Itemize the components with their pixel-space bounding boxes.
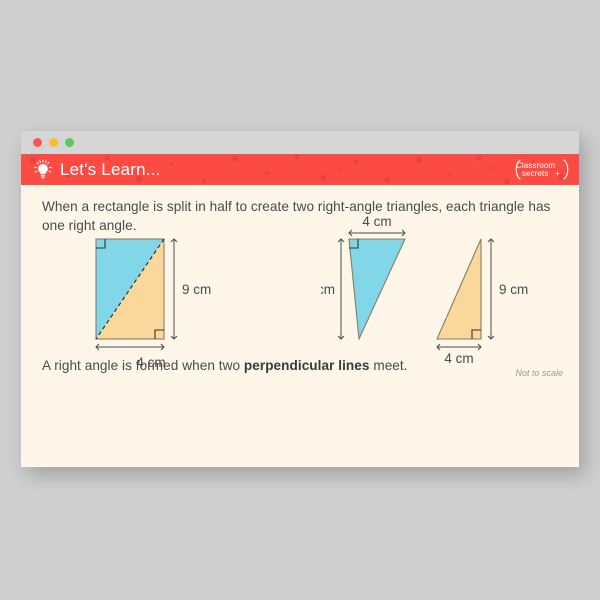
figure-blue-triangle: 4 cm 9 cm xyxy=(321,215,431,340)
lightbulb-icon xyxy=(32,159,54,181)
figure3-height-dimension xyxy=(488,239,494,339)
conclusion-paragraph: A right angle is formed when two perpend… xyxy=(42,358,408,373)
conclusion-after: meet. xyxy=(370,358,408,373)
figure1-height-label: 9 cm xyxy=(182,282,211,297)
close-button[interactable] xyxy=(33,138,42,147)
blue-triangle-shape xyxy=(349,239,405,339)
logo-line-2: secrets xyxy=(522,169,549,178)
window-titlebar xyxy=(21,131,579,154)
conclusion-before: A right angle is formed when two xyxy=(42,358,244,373)
figure-rectangle-split: 9 cm xyxy=(76,229,226,354)
presentation-window: Let's Learn... Classroom secrets + When … xyxy=(21,131,579,467)
figure3-width-label: 4 cm xyxy=(444,351,473,365)
logo-plus: + xyxy=(555,169,560,178)
figure2-height-dimension xyxy=(338,239,344,339)
conclusion-bold: perpendicular lines xyxy=(244,358,370,373)
slide-content: When a rectangle is split in half to cre… xyxy=(21,185,579,467)
not-to-scale-note: Not to scale xyxy=(515,368,563,378)
figure-orange-triangle: 9 cm 4 cm xyxy=(431,225,579,365)
minimize-button[interactable] xyxy=(49,138,58,147)
classroom-secrets-logo: Classroom secrets + xyxy=(514,158,570,181)
width-dimension xyxy=(96,344,164,350)
orange-triangle-shape xyxy=(437,239,481,339)
banner-title: Let's Learn... xyxy=(60,160,161,180)
zoom-button[interactable] xyxy=(65,138,74,147)
figure2-width-dimension xyxy=(349,230,405,236)
figure3-width-dimension xyxy=(437,344,481,350)
figure3-height-label: 9 cm xyxy=(499,282,528,297)
height-dimension xyxy=(171,239,177,339)
lets-learn-banner: Let's Learn... Classroom secrets + xyxy=(21,154,579,185)
figures-area: 9 cm 4 cm 4 cm xyxy=(21,229,579,359)
figure2-width-label: 4 cm xyxy=(362,215,391,229)
figure2-height-label: 9 cm xyxy=(321,282,335,297)
